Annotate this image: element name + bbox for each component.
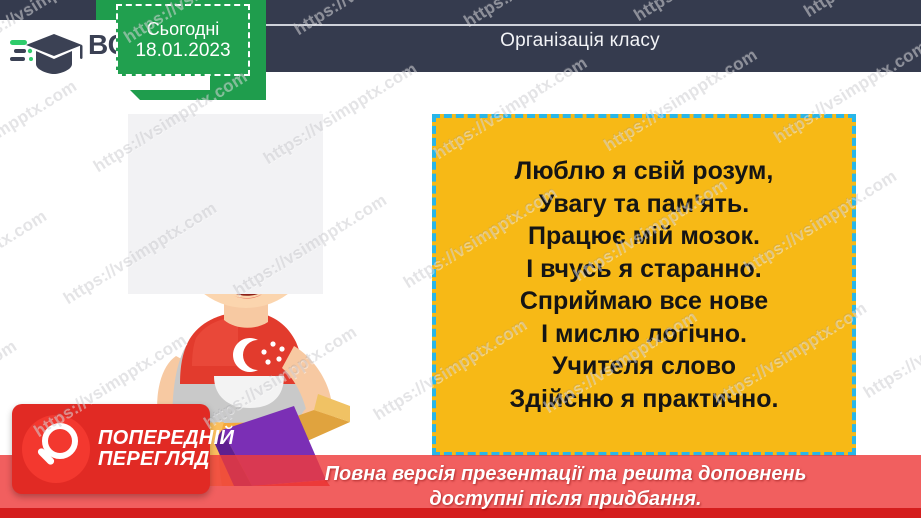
today-label: Сьогодні <box>147 20 220 38</box>
verse-line-2: Увагу та пам'ять. <box>539 188 750 221</box>
today-date: 18.01.2023 <box>135 41 230 60</box>
watermark-text: https://vsimpptx.com <box>0 206 51 317</box>
today-date-badge: Сьогодні 18.01.2023 <box>116 4 250 76</box>
magnifier-icon <box>22 415 90 483</box>
preview-badge-text: ПОПЕРЕДНІЙ ПЕРЕГЛЯД <box>98 428 234 470</box>
preview-badge[interactable]: ПОПЕРЕДНІЙ ПЕРЕГЛЯД <box>12 404 210 494</box>
purchase-banner-text: Повна версія презентації та решта доповн… <box>210 462 921 512</box>
purchase-banner-line-2: доступні після придбання. <box>210 487 921 512</box>
watermark-text: https://vsimpptx.com <box>860 292 921 403</box>
preview-badge-line-2: ПЕРЕГЛЯД <box>98 449 234 470</box>
purchase-banner-line-1: Повна версія презентації та решта доповн… <box>210 462 921 487</box>
verse-line-3: Працює мій мозок. <box>528 220 760 253</box>
verse-line-5: Сприймаю все нове <box>520 285 768 318</box>
preview-badge-line-1: ПОПЕРЕДНІЙ <box>98 428 234 449</box>
verse-line-7: Учителя слово <box>552 350 736 383</box>
verse-line-4: І вчусь я старанно. <box>526 253 762 286</box>
verse-line-1: Люблю я свій розум, <box>515 155 774 188</box>
presentation-slide: Організація класу ВСІМ pptx Сьогодні 18.… <box>0 0 921 518</box>
verse-line-6: І мислю логічно. <box>541 318 747 351</box>
graduation-cap-icon <box>10 28 84 76</box>
verse-box: Люблю я свій розум, Увагу та пам'ять. Пр… <box>432 114 856 456</box>
verse-line-8: Здійсню я практично. <box>510 383 779 416</box>
watermark-text: https://vsimpptx.com <box>0 76 81 187</box>
magnifier-glyph <box>22 415 90 483</box>
page-title: Організація класу <box>300 30 860 52</box>
illustration-backdrop <box>128 114 323 294</box>
